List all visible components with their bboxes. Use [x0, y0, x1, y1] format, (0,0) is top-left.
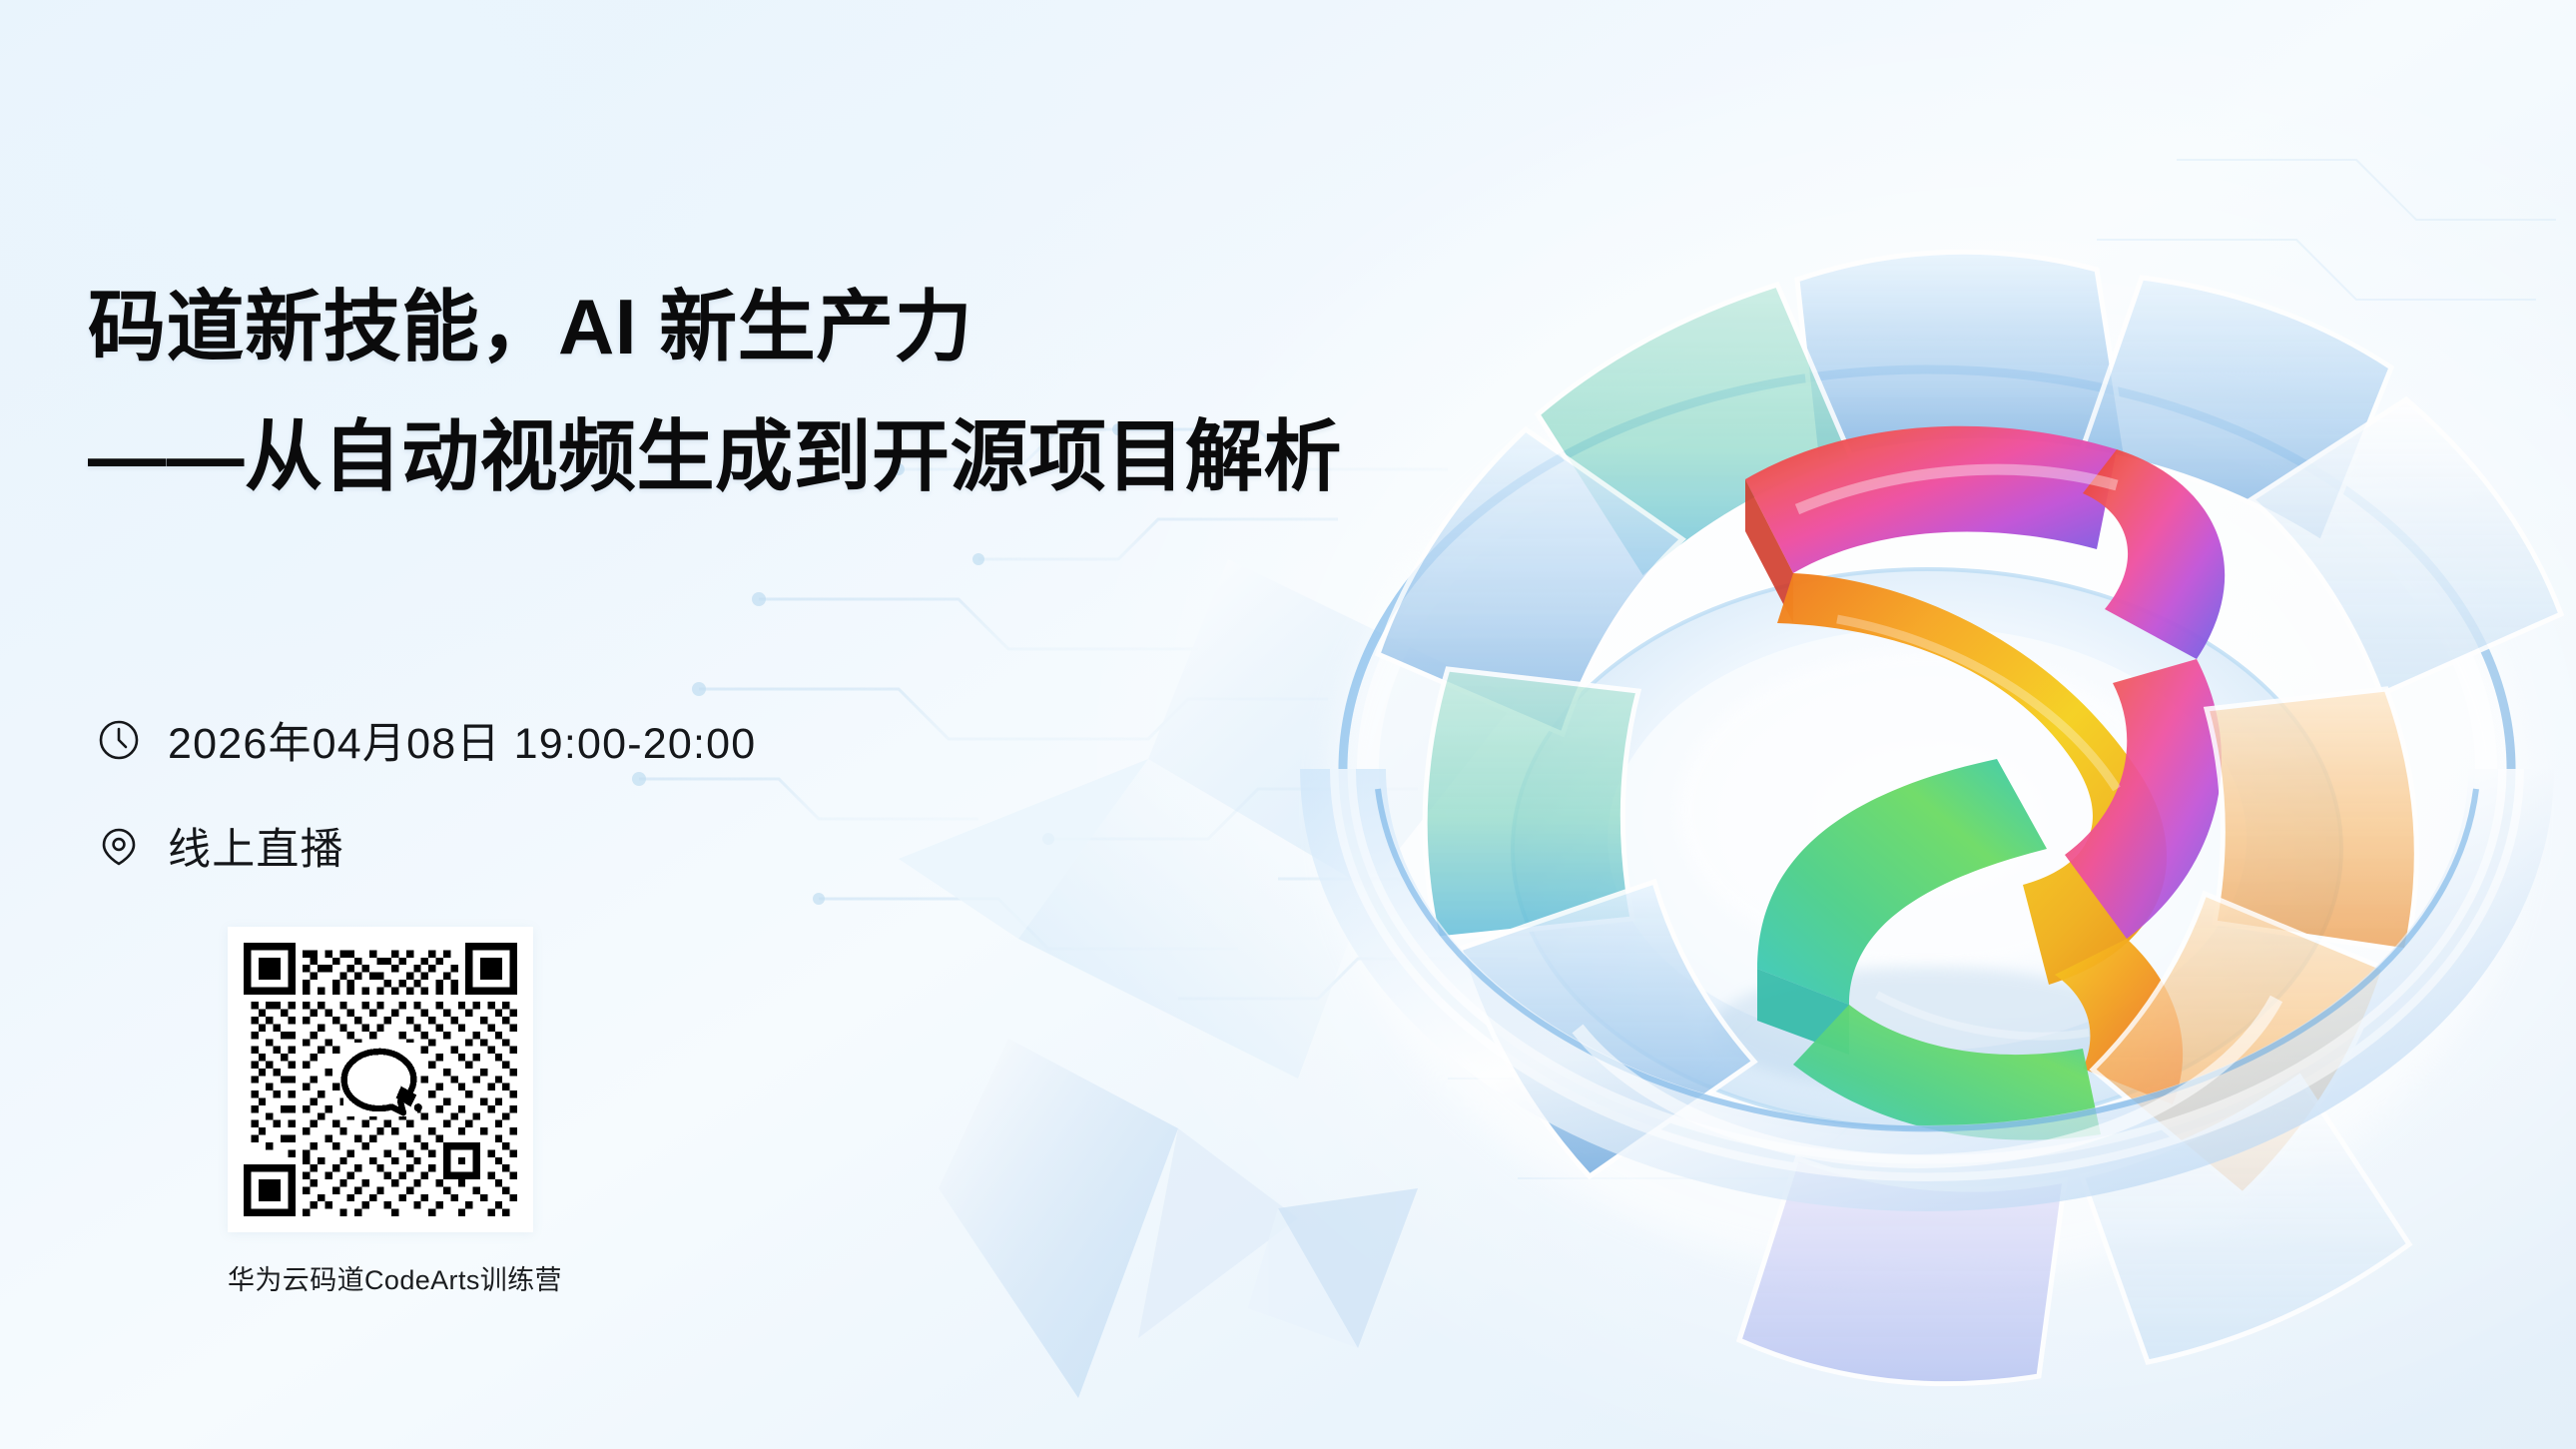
page-title: 码道新技能，AI 新生产力 ——从自动视频生成到开源项目解析 [88, 288, 1342, 495]
event-datetime-text: 2026年04月08日 19:00-20:00 [168, 709, 756, 771]
meta-row-location: 线上直播 [96, 815, 756, 877]
promo-banner: 码道新技能，AI 新生产力 ——从自动视频生成到开源项目解析 2026年04月0… [0, 0, 2576, 1449]
meta-row-datetime: 2026年04月08日 19:00-20:00 [96, 709, 756, 771]
clock-icon [96, 717, 142, 763]
event-meta: 2026年04月08日 19:00-20:00 线上直播 [96, 709, 756, 921]
title-line-2: ——从自动视频生成到开源项目解析 [88, 417, 1342, 495]
content-column: 码道新技能，AI 新生产力 ——从自动视频生成到开源项目解析 2026年04月0… [0, 0, 1558, 1449]
qr-code[interactable] [228, 927, 533, 1232]
wechat-bubble-icon [343, 1043, 422, 1116]
event-location-text: 线上直播 [168, 815, 344, 877]
qr-section: 华为云码道CodeArts训练营 [228, 927, 533, 1297]
location-pin-icon [96, 823, 142, 869]
qr-code-matrix[interactable] [244, 943, 517, 1216]
qr-caption: 华为云码道CodeArts训练营 [228, 1258, 533, 1297]
title-line-1: 码道新技能，AI 新生产力 [88, 288, 1342, 365]
